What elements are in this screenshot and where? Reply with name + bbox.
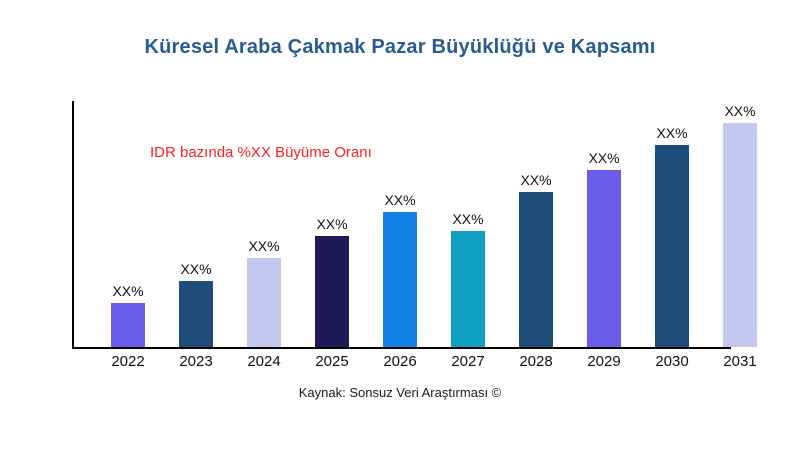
bar-value-label: XX% — [439, 211, 497, 227]
source-note: Kaynak: Sonsuz Veri Araştırması © — [0, 385, 800, 400]
bar-group-2029[interactable]: XX% — [587, 144, 621, 347]
bar-value-label: XX% — [711, 103, 769, 119]
bar-group-2023[interactable]: XX% — [179, 255, 213, 347]
x-tick-2024: 2024 — [229, 353, 299, 370]
bar-group-2026[interactable]: XX% — [383, 186, 417, 347]
bar-group-2027[interactable]: XX% — [451, 205, 485, 347]
bar-2025[interactable] — [315, 236, 349, 347]
bar-value-label: XX% — [371, 192, 429, 208]
x-tick-2023: 2023 — [161, 353, 231, 370]
bar-group-2024[interactable]: XX% — [247, 232, 281, 347]
bar-2028[interactable] — [519, 192, 553, 347]
bar-value-label: XX% — [575, 150, 633, 166]
x-tick-2025: 2025 — [297, 353, 367, 370]
bar-value-label: XX% — [99, 283, 157, 299]
bar-2022[interactable] — [111, 303, 145, 347]
bar-value-label: XX% — [303, 216, 361, 232]
bar-2027[interactable] — [451, 231, 485, 347]
x-axis-tick-labels: 2022202320242025202620272028202920302031 — [72, 353, 788, 375]
chart-title: Küresel Araba Çakmak Pazar Büyüklüğü ve … — [0, 36, 800, 59]
bar-value-label: XX% — [507, 172, 565, 188]
bar-2024[interactable] — [247, 258, 281, 347]
bar-group-2030[interactable]: XX% — [655, 119, 689, 347]
x-tick-2031: 2031 — [705, 353, 775, 370]
bar-group-2025[interactable]: XX% — [315, 210, 349, 347]
x-tick-2027: 2027 — [433, 353, 503, 370]
bar-2031[interactable] — [723, 123, 757, 347]
bar-2023[interactable] — [179, 281, 213, 347]
bar-group-2022[interactable]: XX% — [111, 277, 145, 347]
bars-layer: XX%XX%XX%XX%XX%XX%XX%XX%XX%XX% — [72, 101, 788, 349]
x-tick-2029: 2029 — [569, 353, 639, 370]
bar-2029[interactable] — [587, 170, 621, 347]
bar-2030[interactable] — [655, 145, 689, 347]
bar-value-label: XX% — [643, 125, 701, 141]
bar-2026[interactable] — [383, 212, 417, 347]
bar-group-2031[interactable]: XX% — [723, 97, 757, 347]
x-tick-2028: 2028 — [501, 353, 571, 370]
bar-group-2028[interactable]: XX% — [519, 166, 553, 347]
x-tick-2026: 2026 — [365, 353, 435, 370]
bar-value-label: XX% — [235, 238, 293, 254]
bar-value-label: XX% — [167, 261, 225, 277]
plot-area: IDR bazında %XX Büyüme Oranı XX%XX%XX%XX… — [72, 101, 788, 349]
x-tick-2022: 2022 — [93, 353, 163, 370]
chart-container: Küresel Araba Çakmak Pazar Büyüklüğü ve … — [0, 0, 800, 450]
x-tick-2030: 2030 — [637, 353, 707, 370]
